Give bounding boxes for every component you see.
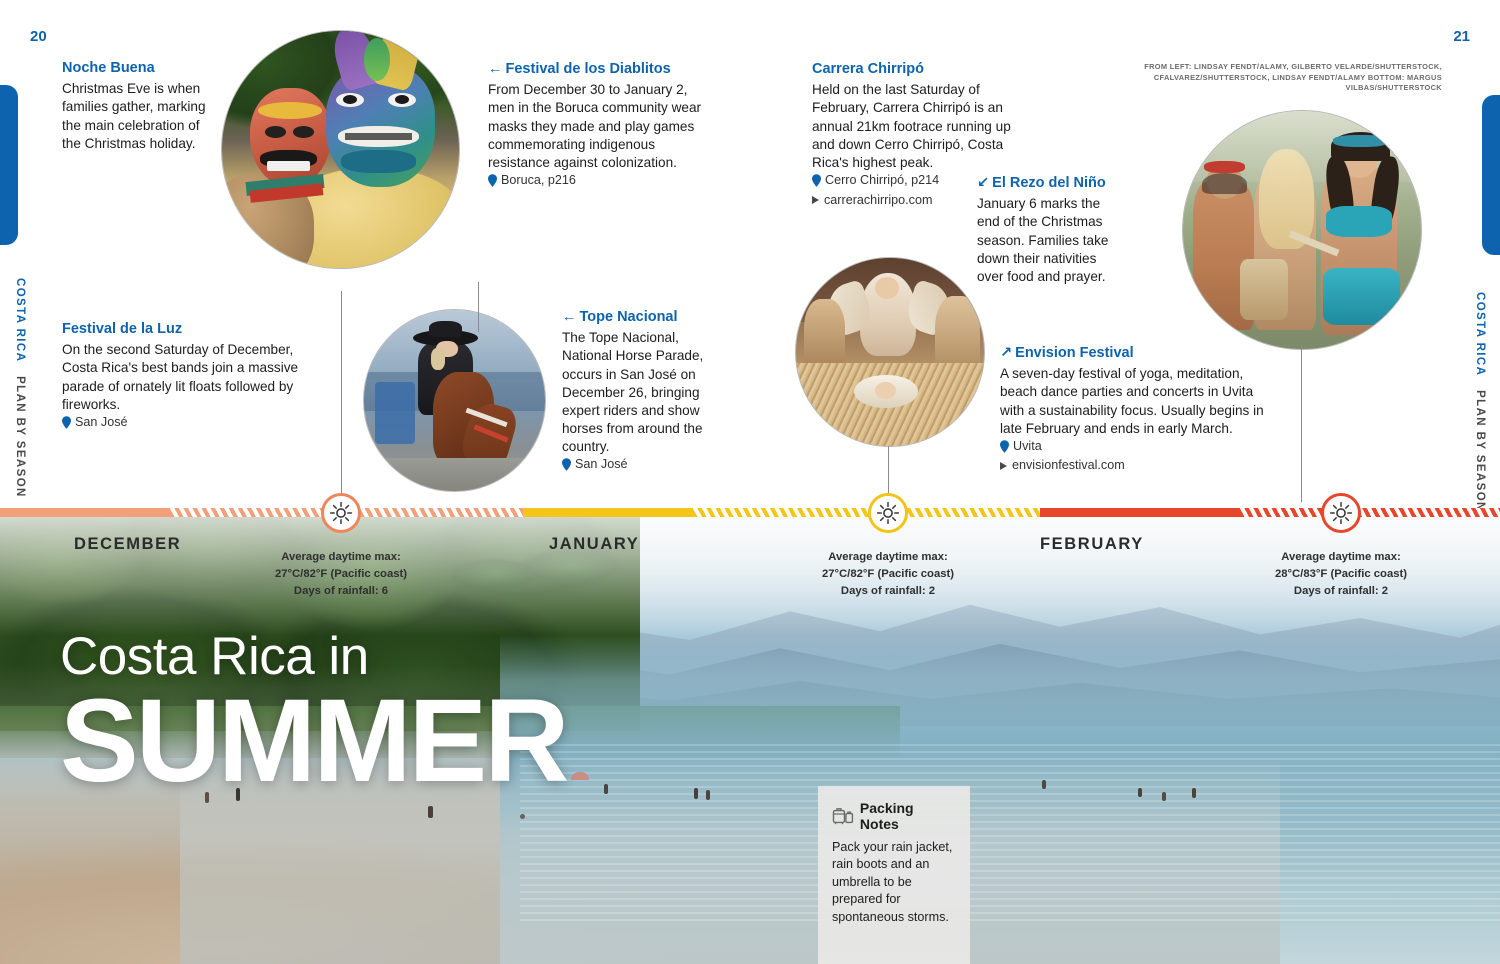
map-pin-icon [62,416,71,429]
photo-circle-envision [1182,110,1422,350]
photo-credits: FROM LEFT: LINDSAY FENDT/ALAMY, GILBERTO… [1142,62,1442,94]
entry-title: ←Tope Nacional [562,309,717,326]
month-label-february: FEBRUARY [1040,535,1144,554]
arrow-down-left-icon: ↙ [977,175,989,192]
beach-figure [1042,780,1046,789]
entry-body: Christmas Eve is when families gather, m… [62,80,210,152]
connector-line-december [341,291,342,501]
entry-body: From December 30 to January 2, men in th… [488,81,716,171]
magazine-spread: 20 21 COSTA RICA PLAN BY SEASON COSTA RI… [0,0,1500,964]
entry-title: Festival de la Luz [62,321,326,338]
timeline-segment-february [1040,508,1500,517]
entry-title: ↙El Rezo del Niño [977,175,1119,192]
packing-notes-body: Pack your rain jacket, rain boots and an… [832,839,956,926]
map-pin-icon [488,174,497,187]
entry-location-text: San José [75,415,128,431]
running-head-section: PLAN BY SEASON [14,376,26,498]
weather-avg-label: Average daytime max: [211,549,471,566]
entry-location: Boruca, p216 [488,173,716,189]
entry-location-text: Boruca, p216 [501,173,576,189]
sun-icon [1329,501,1353,525]
entry-festival-de-la-luz: Festival de la Luz On the second Saturda… [62,321,326,430]
entry-title-text: Tope Nacional [580,309,678,325]
water-shimmer [520,744,1500,924]
running-head-brand: COSTA RICA [1474,292,1486,376]
packing-notes-header: Packing Notes [832,800,956,832]
entry-title-text: Envision Festival [1015,345,1133,361]
map-pin-icon [1000,440,1009,453]
entry-title-text: Carrera Chirripó [812,61,924,77]
arrow-left-icon: ← [488,61,503,78]
map-pin-icon [562,458,571,471]
connector-line-tope [478,282,479,332]
entry-body: A seven-day festival of yoga, meditation… [1000,365,1278,437]
connector-line-february [1301,345,1302,502]
arrow-left-icon: ← [562,309,577,326]
sun-icon [876,501,900,525]
beach-figure [706,790,710,800]
photo-circle-diablitos [221,30,460,269]
photo-circle-tope-nacional [363,309,546,492]
running-head-right: COSTA RICA PLAN BY SEASON [1474,292,1486,512]
entry-website-text: envisionfestival.com [1012,458,1125,474]
weather-temp: 27°C/82°F (Pacific coast) [211,566,471,583]
entry-body: On the second Saturday of December, Cost… [62,341,326,413]
beach-figure [428,806,433,818]
weather-temp: 27°C/82°F (Pacific coast) [758,566,1018,583]
map-pin-icon [812,174,821,187]
running-head-section: PLAN BY SEASON [1474,390,1486,512]
entry-website-text: carrerachirripo.com [824,193,932,209]
sun-marker-december [321,493,361,533]
sun-marker-january [868,493,908,533]
weather-stats-february: Average daytime max: 28°C/83°F (Pacific … [1211,549,1471,600]
right-edge-tab [1482,95,1500,255]
entry-title-text: Festival de los Diablitos [506,61,671,77]
entry-location: Uvita [1000,439,1278,455]
entry-location-text: San José [575,457,628,473]
entry-title-text: Noche Buena [62,60,155,76]
entry-title-text: Festival de la Luz [62,321,182,337]
arrow-up-right-icon: ↗ [1000,345,1012,362]
weather-avg-label: Average daytime max: [1211,549,1471,566]
entry-title: Carrera Chirripó [812,61,1017,78]
entry-title: ←Festival de los Diablitos [488,61,716,78]
entry-title: ↗Envision Festival [1000,345,1278,362]
weather-stats-december: Average daytime max: 27°C/82°F (Pacific … [211,549,471,600]
running-head-left: COSTA RICA PLAN BY SEASON [14,278,26,498]
left-edge-tab [0,85,18,245]
beach-figure [1138,788,1142,797]
entry-festival-de-los-diablitos: ←Festival de los Diablitos From December… [488,61,716,189]
month-label-december: DECEMBER [74,535,181,554]
packing-notes-card: Packing Notes Pack your rain jacket, rai… [818,786,970,964]
entry-location: San José [62,415,326,431]
page-number-left: 20 [30,28,47,45]
entry-location: San José [562,457,717,473]
weather-stats-january: Average daytime max: 27°C/82°F (Pacific … [758,549,1018,600]
month-label-january: JANUARY [549,535,639,554]
play-triangle-icon [812,196,819,204]
beach-figure [604,784,608,794]
beach-figure [520,814,525,819]
running-head-brand: COSTA RICA [14,278,26,362]
entry-location-text: Cerro Chirripó, p214 [825,173,939,189]
timeline-segment-january [523,508,1040,517]
weather-avg-label: Average daytime max: [758,549,1018,566]
sun-icon [329,501,353,525]
entry-body: January 6 marks the end of the Christmas… [977,195,1119,285]
weather-rainfall: Days of rainfall: 2 [758,583,1018,600]
beach-figure [1192,788,1196,798]
entry-el-rezo-del-nino: ↙El Rezo del Niño January 6 marks the en… [977,175,1119,286]
entry-body: The Tope Nacional, National Horse Parade… [562,329,717,456]
photo-circle-nativity [795,257,985,447]
entry-title: Noche Buena [62,60,210,77]
weather-rainfall: Days of rainfall: 6 [211,583,471,600]
beach-umbrella [571,772,589,780]
packing-notes-title: Packing Notes [860,800,956,832]
entry-body: Held on the last Saturday of February, C… [812,81,1017,171]
entry-tope-nacional: ←Tope Nacional The Tope Nacional, Nation… [562,309,717,473]
weather-temp: 28°C/83°F (Pacific coast) [1211,566,1471,583]
beach-figure [1162,792,1166,801]
hero-title: Costa Rica in SUMMER [60,630,566,797]
page-number-right: 21 [1453,28,1470,45]
timeline-segment-december [0,508,523,517]
play-triangle-icon [1000,462,1007,470]
entry-envision-festival: ↗Envision Festival A seven-day festival … [1000,345,1278,474]
entry-title-text: El Rezo del Niño [992,175,1106,191]
entry-website[interactable]: envisionfestival.com [1000,458,1278,474]
beach-figure [694,788,698,799]
luggage-icon [832,807,854,825]
entry-noche-buena: Noche Buena Christmas Eve is when famili… [62,60,210,153]
sun-marker-february [1321,493,1361,533]
entry-location-text: Uvita [1013,439,1042,455]
hero-title-line2: SUMMER [60,685,566,797]
weather-rainfall: Days of rainfall: 2 [1211,583,1471,600]
season-timeline [0,508,1500,517]
